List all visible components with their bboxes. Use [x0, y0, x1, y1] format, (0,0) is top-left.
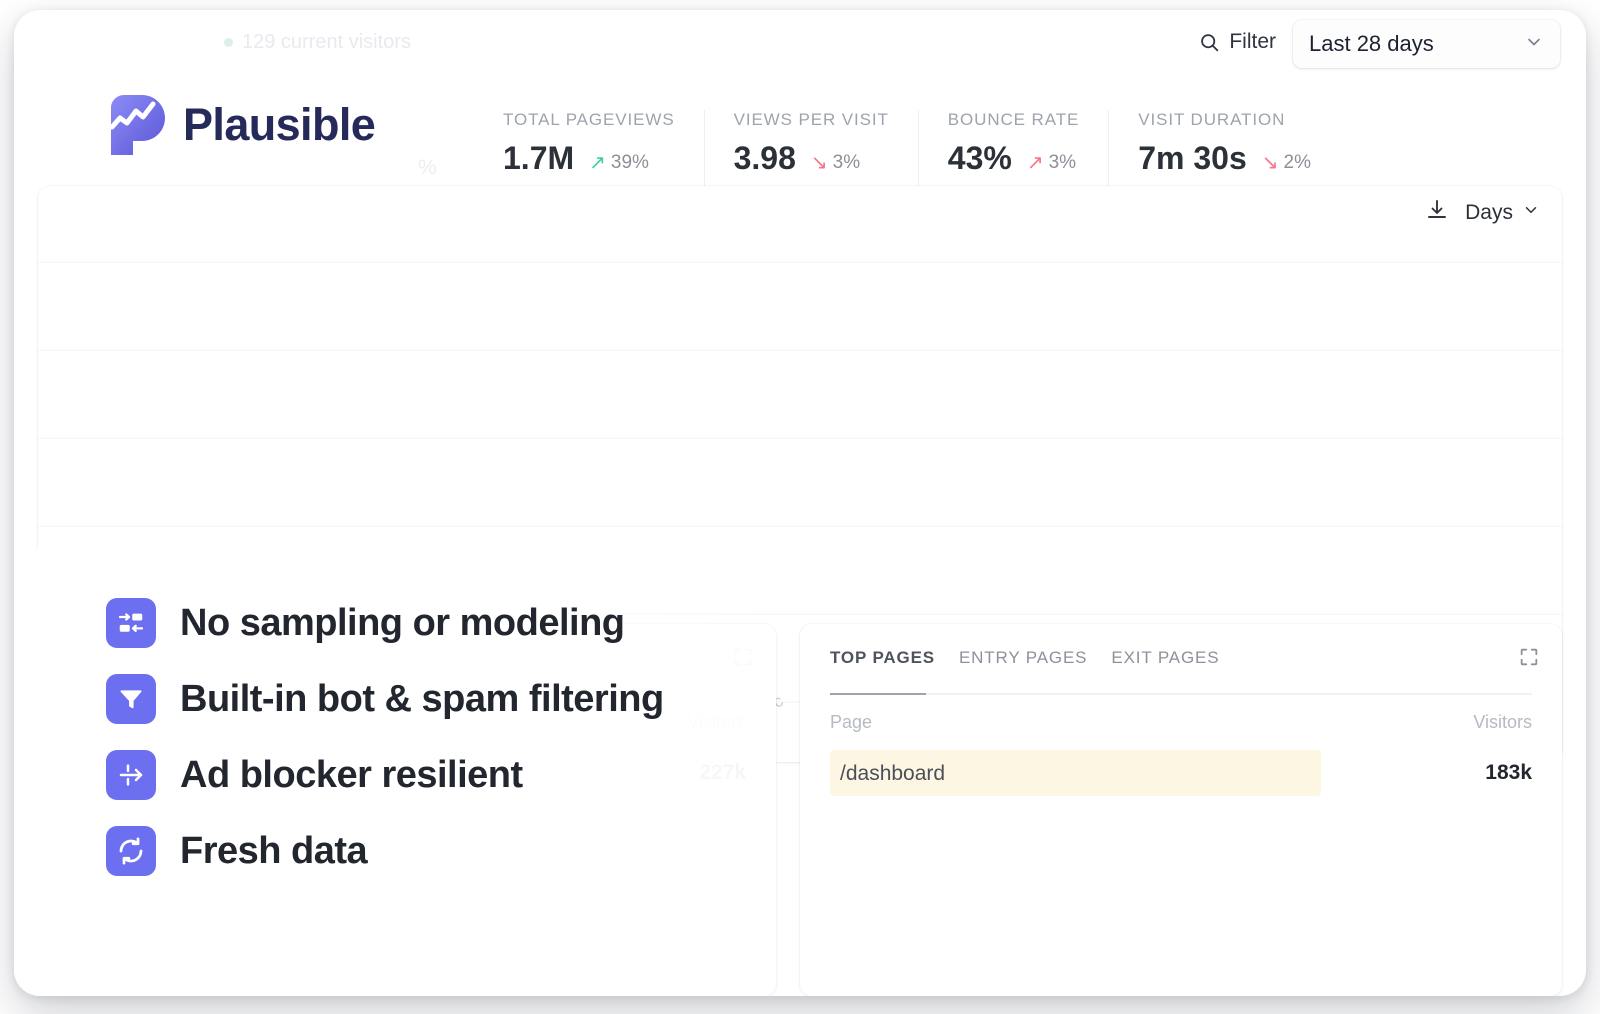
arrow-through-barrier-icon: [106, 750, 156, 800]
ghost-percent-label: %: [418, 156, 437, 180]
top-pages-panel: TOP PAGES ENTRY PAGES EXIT PAGES Page Vi…: [800, 624, 1562, 996]
chart-toolbar: Days: [1425, 198, 1540, 227]
feature-no-sampling: No sampling or modeling: [106, 598, 664, 648]
top-bar: 129 current visitors Filter Last 28 days: [14, 10, 1586, 92]
metric-label: VIEWS PER VISIT: [734, 110, 889, 130]
column-header-visitors: Visitors: [1473, 712, 1532, 733]
chart-interval-select[interactable]: Days: [1465, 201, 1540, 225]
metric-delta: ↘ 2%: [1262, 152, 1311, 174]
live-dot-icon: [224, 38, 233, 47]
feature-label: Fresh data: [180, 830, 367, 873]
search-icon: [1199, 32, 1220, 53]
data-transfer-icon: [106, 598, 156, 648]
metric-label: VISIT DURATION: [1138, 110, 1311, 130]
filter-button[interactable]: Filter: [1199, 30, 1276, 54]
table-row[interactable]: /dashboard 183k: [830, 750, 1532, 796]
metric-delta-value: 3%: [1049, 152, 1076, 174]
chevron-down-icon: [1524, 32, 1544, 57]
metric-delta-value: 3%: [833, 152, 860, 174]
date-range-select[interactable]: Last 28 days: [1293, 20, 1560, 68]
feature-bot-filtering: Built-in bot & spam filtering: [106, 674, 664, 724]
metric-visit-duration[interactable]: VISIT DURATION 7m 30s ↘ 2%: [1108, 110, 1340, 188]
dashboard-card: 129 current visitors Filter Last 28 days: [14, 10, 1586, 996]
feature-fresh-data: Fresh data: [106, 826, 664, 876]
tab-top-pages[interactable]: TOP PAGES: [830, 648, 935, 682]
panel-tabs: TOP PAGES ENTRY PAGES EXIT PAGES: [830, 648, 1219, 682]
metric-delta: ↗ 39%: [589, 152, 649, 174]
metrics-row: TOTAL PAGEVIEWS 1.7M ↗ 39% VIEWS PER VIS…: [487, 110, 1340, 188]
metric-value: 1.7M: [503, 140, 574, 177]
metric-delta-value: 2%: [1284, 152, 1311, 174]
metric-value: 43%: [948, 140, 1012, 177]
arrow-down-right-icon: ↘: [1262, 153, 1279, 173]
feature-label: Built-in bot & spam filtering: [180, 678, 664, 721]
tab-entry-pages[interactable]: ENTRY PAGES: [959, 648, 1087, 682]
metric-delta-value: 39%: [611, 152, 649, 174]
chevron-down-icon: [1522, 201, 1540, 225]
column-header-page: Page: [830, 712, 872, 733]
plausible-logo-icon: [109, 94, 166, 156]
metric-delta: ↘ 3%: [811, 152, 860, 174]
feature-list: No sampling or modeling Built-in bot & s…: [106, 598, 664, 876]
refresh-sync-icon: [106, 826, 156, 876]
feature-adblocker-resilient: Ad blocker resilient: [106, 750, 664, 800]
metric-delta: ↗ 3%: [1027, 152, 1076, 174]
metric-value: 7m 30s: [1138, 140, 1247, 177]
feature-label: Ad blocker resilient: [180, 754, 523, 797]
column-header-visitors: Visitors: [687, 712, 746, 733]
metric-total-pageviews[interactable]: TOTAL PAGEVIEWS 1.7M ↗ 39%: [487, 110, 704, 188]
tab-underline: [830, 693, 1532, 695]
filter-label: Filter: [1229, 30, 1276, 54]
metric-value: 3.98: [734, 140, 796, 177]
row-value: 183k: [1485, 761, 1532, 785]
tab-exit-pages[interactable]: EXIT PAGES: [1111, 648, 1219, 682]
chart-interval-label: Days: [1465, 201, 1513, 225]
metric-bounce-rate[interactable]: BOUNCE RATE 43% ↗ 3%: [918, 110, 1108, 188]
expand-icon[interactable]: [732, 646, 754, 673]
arrow-down-right-icon: ↘: [811, 153, 828, 173]
row-value: 227k: [699, 761, 746, 785]
expand-icon[interactable]: [1518, 646, 1540, 673]
arrow-up-right-icon: ↗: [589, 153, 606, 173]
metric-label: TOTAL PAGEVIEWS: [503, 110, 675, 130]
row-name: /dashboard: [840, 762, 945, 786]
arrow-up-right-icon: ↗: [1027, 153, 1044, 173]
current-visitors-label: 129 current visitors: [242, 31, 411, 54]
brand-logo: Plausible: [109, 94, 375, 156]
current-visitors-indicator: 129 current visitors: [224, 31, 411, 54]
download-icon[interactable]: [1425, 198, 1449, 227]
date-range-label: Last 28 days: [1309, 31, 1524, 57]
feature-label: No sampling or modeling: [180, 602, 625, 645]
funnel-filter-icon: [106, 674, 156, 724]
brand-wordmark: Plausible: [183, 99, 375, 151]
metric-views-per-visit[interactable]: VIEWS PER VISIT 3.98 ↘ 3%: [704, 110, 918, 188]
metric-label: BOUNCE RATE: [948, 110, 1079, 130]
